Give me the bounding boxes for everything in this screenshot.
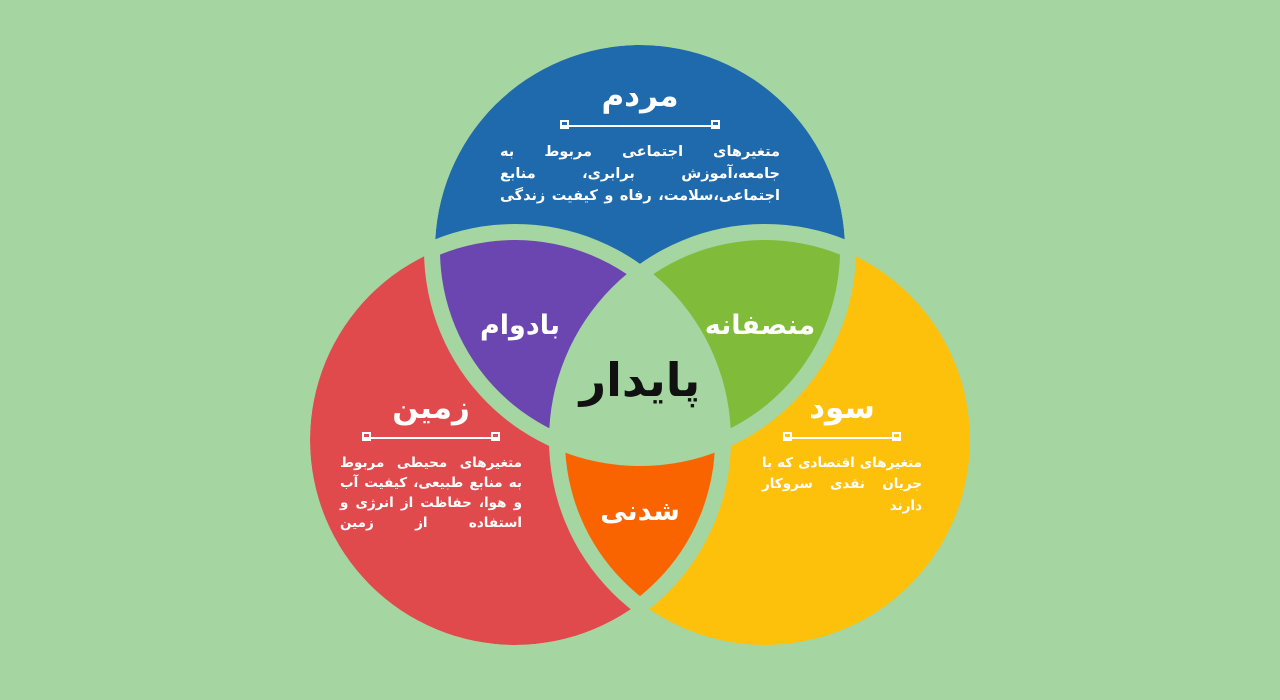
venn-shapes [0, 0, 1280, 700]
venn-diagram-canvas: مردم متغیرهای اجتماعی مربوط به جامعه،آمو… [0, 0, 1280, 700]
viable-intersection-shape [565, 240, 965, 640]
